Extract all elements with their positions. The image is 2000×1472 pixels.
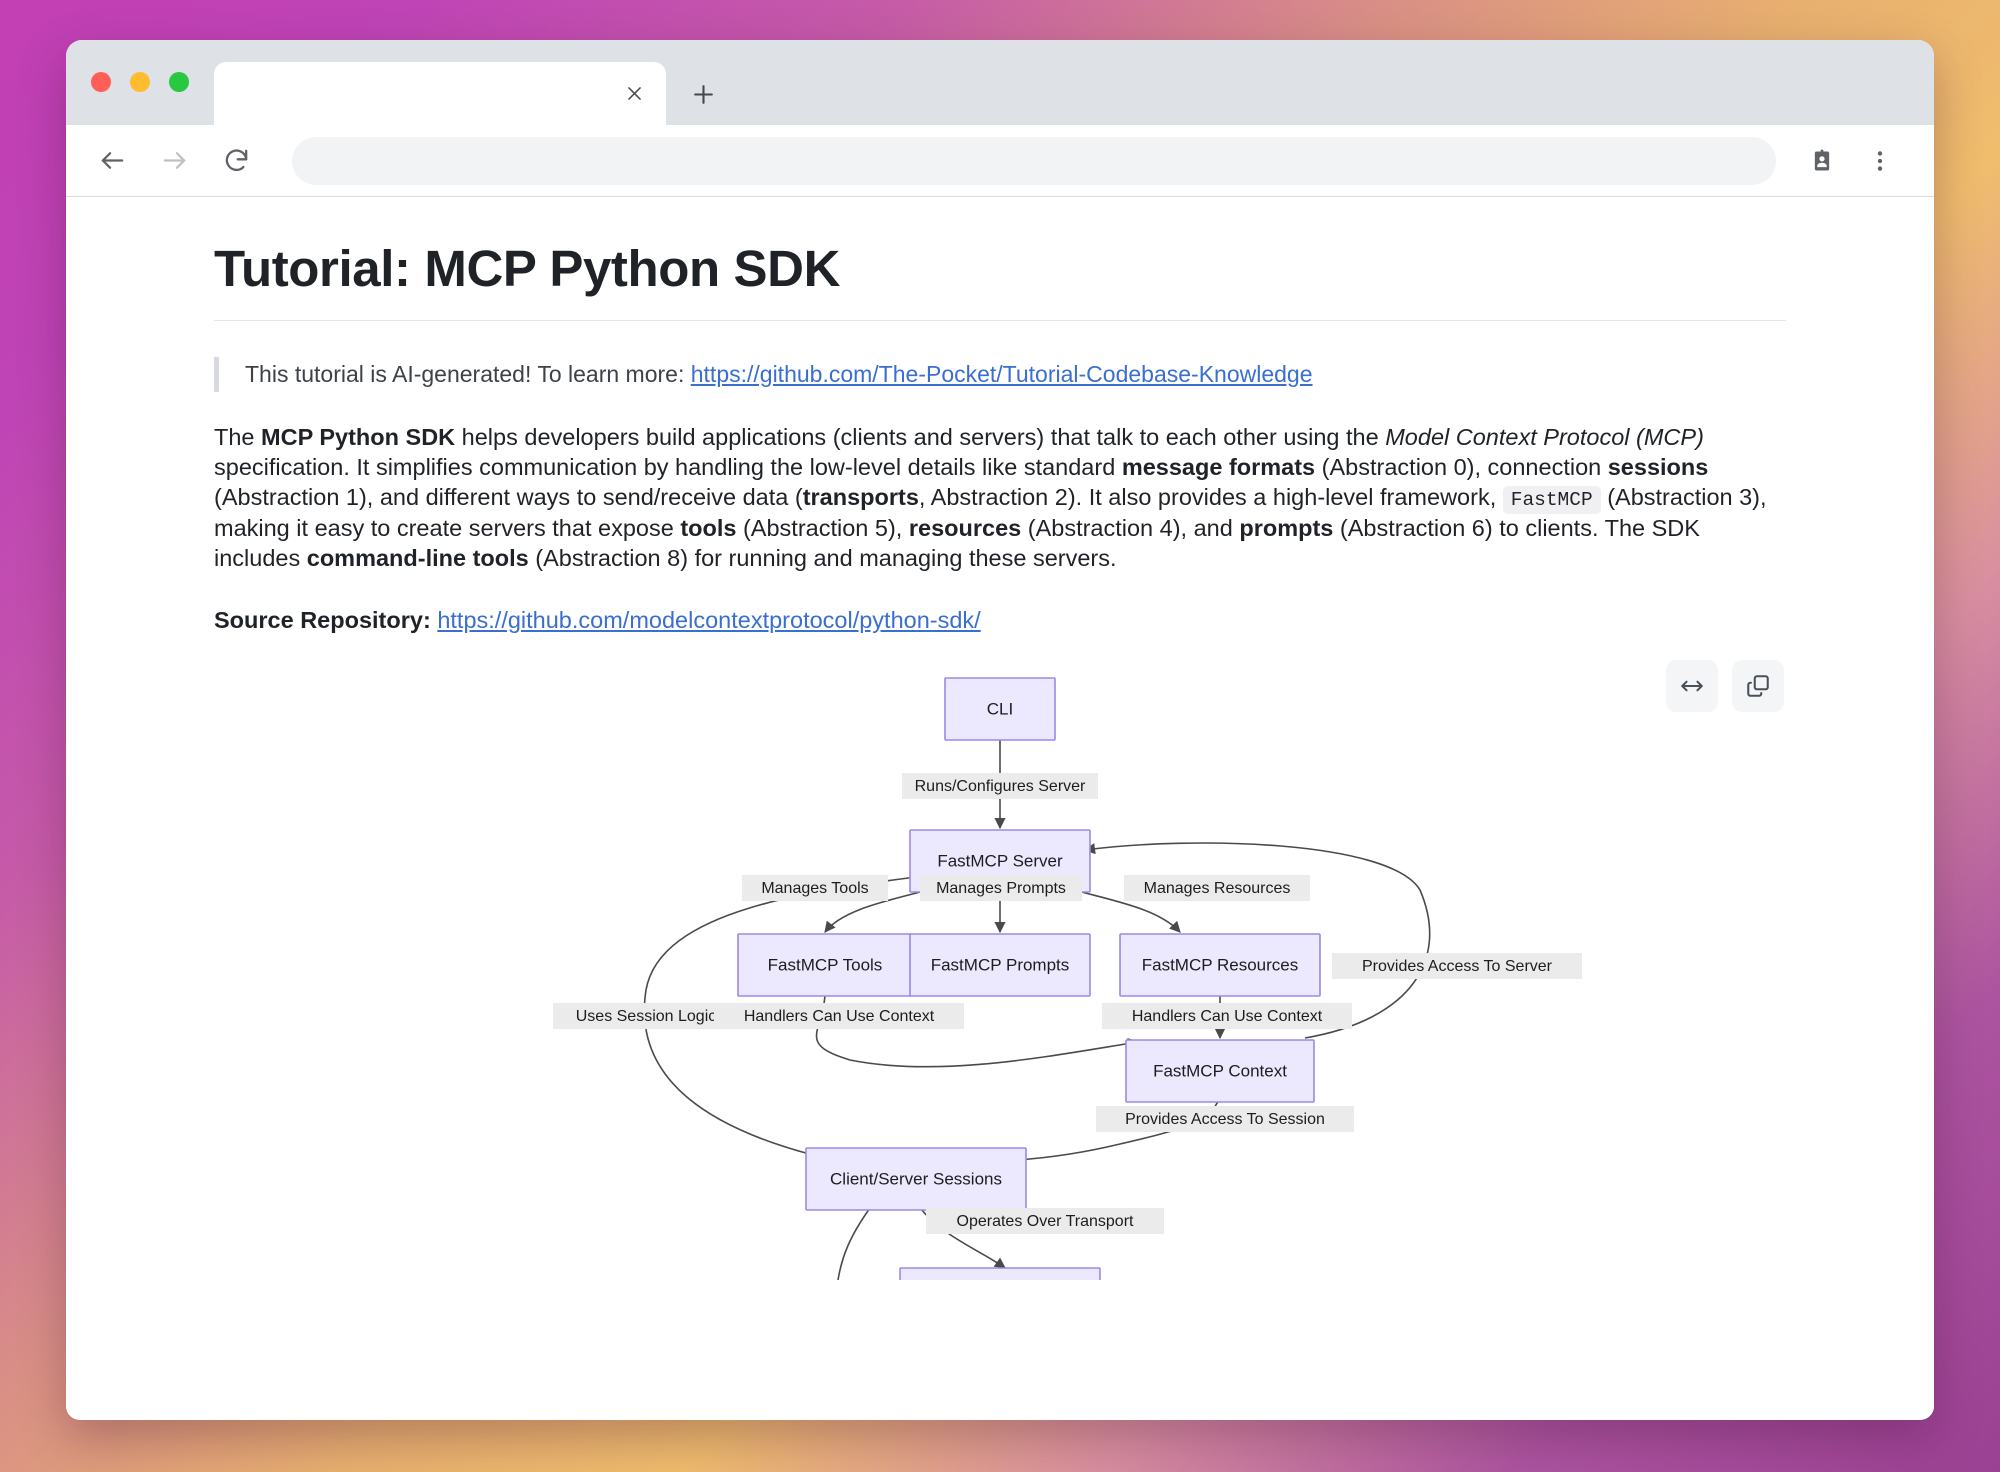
edge-label-manages-resources: Manages Resources bbox=[1124, 875, 1310, 901]
intro-t11: (Abstraction 8) for running and managing… bbox=[529, 545, 1117, 571]
intro-t9: (Abstraction 4), and bbox=[1021, 515, 1239, 541]
node-fastmcp-resources-label: FastMCP Resources bbox=[1142, 955, 1299, 974]
page-viewport: Tutorial: MCP Python SDK This tutorial i… bbox=[66, 197, 1934, 1420]
edge-label-handlers-can-use-context-resources: Handlers Can Use Context bbox=[1102, 1003, 1352, 1029]
intro-b2: message formats bbox=[1122, 454, 1315, 480]
note-prefix: This tutorial is AI-generated! To learn … bbox=[245, 361, 691, 387]
arrows-horizontal-icon[interactable] bbox=[1666, 660, 1718, 712]
edge-label-text: Manages Tools bbox=[761, 880, 868, 897]
tutorial-knowledge-link[interactable]: https://github.com/The-Pocket/Tutorial-C… bbox=[691, 361, 1313, 387]
edge-label-runs-configures-server: Runs/Configures Server bbox=[902, 773, 1098, 799]
browser-window: Tutorial: MCP Python SDK This tutorial i… bbox=[66, 40, 1934, 1420]
source-repository-line: Source Repository: https://github.com/mo… bbox=[214, 607, 1786, 634]
close-icon[interactable] bbox=[614, 74, 654, 114]
intro-b3: sessions bbox=[1608, 454, 1709, 480]
fastmcp-code-span: FastMCP bbox=[1503, 486, 1601, 514]
edge-sessions-left bbox=[838, 1208, 870, 1280]
intro-b6: resources bbox=[909, 515, 1021, 541]
edge-label-operates-over-transport: Operates Over Transport bbox=[926, 1208, 1164, 1234]
intro-t8: (Abstraction 5), bbox=[736, 515, 908, 541]
intro-b1: MCP Python SDK bbox=[261, 424, 455, 450]
browser-toolbar bbox=[66, 125, 1934, 197]
edge-label-provides-access-to-session: Provides Access To Session bbox=[1096, 1106, 1354, 1132]
intro-b8: command-line tools bbox=[307, 545, 529, 571]
node-fastmcp-context[interactable]: FastMCP Context bbox=[1126, 1040, 1314, 1102]
browser-tab[interactable] bbox=[214, 62, 666, 125]
intro-b7: prompts bbox=[1239, 515, 1333, 541]
intro-b5: tools bbox=[680, 515, 736, 541]
edge-label-manages-prompts: Manages Prompts bbox=[920, 875, 1082, 901]
node-fastmcp-tools[interactable]: FastMCP Tools bbox=[738, 934, 912, 996]
node-cli[interactable]: CLI bbox=[945, 678, 1055, 740]
intro-b4: transports bbox=[803, 484, 919, 510]
edge-label-handlers-can-use-context-tools: Handlers Can Use Context bbox=[714, 1003, 964, 1029]
intro-t2: helps developers build applications (cli… bbox=[455, 424, 1385, 450]
diagram-toolbar bbox=[1666, 660, 1784, 712]
node-cli-label: CLI bbox=[987, 699, 1013, 718]
edge-label-text: Handlers Can Use Context bbox=[744, 1008, 935, 1025]
edge-label-text: Manages Prompts bbox=[936, 880, 1066, 897]
edge-label-text: Uses Session Logic bbox=[576, 1008, 717, 1025]
intro-t5: (Abstraction 1), and different ways to s… bbox=[214, 484, 803, 510]
plus-icon[interactable] bbox=[683, 74, 723, 114]
arrow-right-icon[interactable] bbox=[146, 133, 202, 189]
edge-label-text: Runs/Configures Server bbox=[915, 778, 1086, 795]
article-content: Tutorial: MCP Python SDK This tutorial i… bbox=[214, 197, 1786, 1280]
maximize-window-button[interactable] bbox=[169, 72, 189, 92]
edge-label-text: Provides Access To Session bbox=[1125, 1111, 1325, 1128]
address-bar[interactable] bbox=[292, 137, 1776, 185]
node-fastmcp-prompts[interactable]: FastMCP Prompts bbox=[910, 934, 1090, 996]
intro-t4: (Abstraction 0), connection bbox=[1315, 454, 1608, 480]
source-repository-label: Source Repository: bbox=[214, 607, 431, 633]
window-traffic-lights bbox=[91, 72, 189, 92]
intro-paragraph: The MCP Python SDK helps developers buil… bbox=[214, 422, 1786, 573]
edge-label-text: Handlers Can Use Context bbox=[1132, 1008, 1323, 1025]
architecture-flowchart: CLI FastMCP Server FastMCP Tools FastMCP… bbox=[290, 660, 1710, 1280]
node-client-server-sessions[interactable]: Client/Server Sessions bbox=[806, 1148, 1026, 1210]
mermaid-diagram-container: CLI FastMCP Server FastMCP Tools FastMCP… bbox=[214, 660, 1786, 1280]
node-fastmcp-server-label: FastMCP Server bbox=[937, 851, 1063, 870]
minimize-window-button[interactable] bbox=[130, 72, 150, 92]
page-title: Tutorial: MCP Python SDK bbox=[214, 197, 1786, 321]
intro-t6: , Abstraction 2). It also provides a hig… bbox=[919, 484, 1503, 510]
copy-icon[interactable] bbox=[1732, 660, 1784, 712]
intro-i1: Model Context Protocol (MCP) bbox=[1385, 424, 1704, 450]
ai-generated-note: This tutorial is AI-generated! To learn … bbox=[214, 357, 1786, 392]
node-fastmcp-context-label: FastMCP Context bbox=[1153, 1061, 1287, 1080]
edge-label-manages-tools: Manages Tools bbox=[742, 875, 888, 901]
edge-label-text: Provides Access To Server bbox=[1362, 958, 1553, 975]
profile-badge-icon[interactable] bbox=[1796, 135, 1848, 187]
node-fastmcp-tools-label: FastMCP Tools bbox=[768, 955, 883, 974]
edge-label-text: Manages Resources bbox=[1144, 880, 1291, 897]
close-window-button[interactable] bbox=[91, 72, 111, 92]
edge-label-text: Operates Over Transport bbox=[957, 1213, 1135, 1230]
edge-label-provides-access-to-server: Provides Access To Server bbox=[1332, 953, 1582, 979]
three-dot-menu-icon[interactable] bbox=[1854, 135, 1906, 187]
tab-strip bbox=[66, 40, 1934, 125]
intro-t1: The bbox=[214, 424, 261, 450]
edge-label-uses-session-logic: Uses Session Logic bbox=[553, 1003, 739, 1029]
node-client-server-sessions-label: Client/Server Sessions bbox=[830, 1169, 1002, 1188]
reload-icon[interactable] bbox=[208, 133, 264, 189]
node-fastmcp-resources[interactable]: FastMCP Resources bbox=[1120, 934, 1320, 996]
source-repository-link[interactable]: https://github.com/modelcontextprotocol/… bbox=[437, 607, 980, 633]
arrow-left-icon[interactable] bbox=[84, 133, 140, 189]
intro-t3: specification. It simplifies communicati… bbox=[214, 454, 1122, 480]
node-transport-clipped[interactable] bbox=[900, 1268, 1100, 1280]
node-fastmcp-prompts-label: FastMCP Prompts bbox=[931, 955, 1070, 974]
